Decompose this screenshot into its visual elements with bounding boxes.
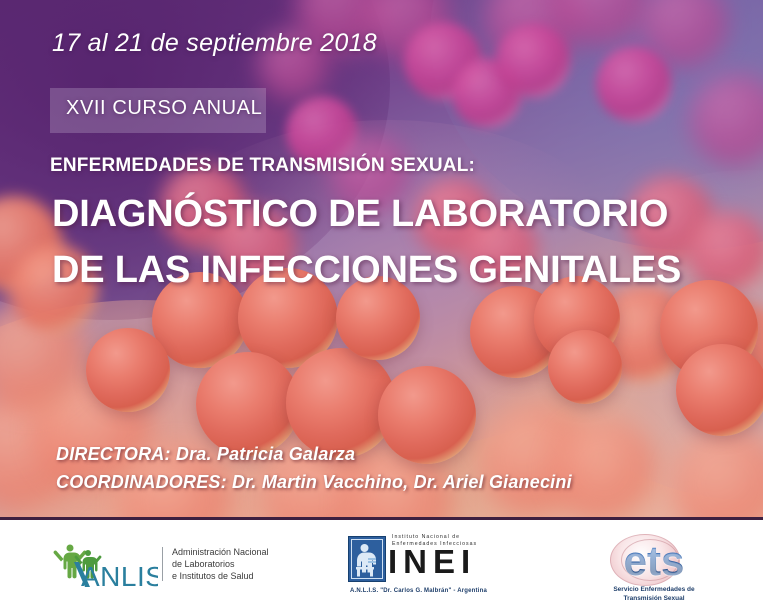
anlis-divider <box>162 547 163 581</box>
poster-title-line-2: DE LAS INFECCIONES GENITALES <box>52 249 681 292</box>
bacteria-cell <box>690 74 763 166</box>
director-credit: DIRECTORA: Dra. Patricia Galarza <box>56 444 355 465</box>
anlis-wordmark: ANLIS <box>81 561 158 588</box>
bacteria-cell <box>0 300 84 410</box>
bacteria-cell <box>660 280 758 378</box>
inei-institute-name-line-1: Instituto Nacional de <box>392 534 477 541</box>
footer-logos: ANLIS Administración Nacional de Laborat… <box>0 520 763 615</box>
bacteria-cell <box>404 22 482 100</box>
bacteria-cell <box>86 328 170 412</box>
anlis-description-line-1: Administración Nacional <box>172 546 269 558</box>
bacteria-cell <box>596 286 692 382</box>
bacteria-cell <box>688 212 763 292</box>
ets-logo: ets Servicio Enfermedades de Transmisión… <box>594 534 714 604</box>
bacteria-cell <box>556 0 648 46</box>
bacteria-cell <box>366 0 450 60</box>
bacteria-cell <box>378 366 476 464</box>
coordinators-credit: COORDINADORES: Dr. Martin Vacchino, Dr. … <box>56 472 572 493</box>
inei-wordmark: INEI <box>388 545 476 579</box>
bacteria-cell <box>452 58 522 128</box>
inei-logo: Instituto Nacional de Enfermedades Infec… <box>348 532 508 604</box>
bacteria-cell <box>496 24 570 98</box>
people-v-icon: ANLIS <box>50 540 158 588</box>
anlis-description-line-2: de Laboratorios <box>172 558 269 570</box>
ets-sub-line-1: Servicio Enfermedades de <box>594 586 714 595</box>
bacteria-cell <box>552 418 656 520</box>
bacteria-microscopy-image: 17 al 21 de septiembre 2018 XVII CURSO A… <box>0 0 763 520</box>
bacteria-cell <box>672 428 763 520</box>
ets-sub-lines: Servicio Enfermedades de Transmisión Sex… <box>594 586 714 603</box>
seated-figure-emblem-icon <box>348 536 386 582</box>
anlis-description: Administración Nacional de Laboratorios … <box>172 546 269 582</box>
course-label: XVII CURSO ANUAL <box>66 97 262 120</box>
ets-sub-line-2: Transmisión Sexual <box>594 595 714 604</box>
bacteria-cell <box>196 352 300 456</box>
bacteria-cell <box>480 404 592 516</box>
bacteria-cell <box>486 0 582 66</box>
bacteria-cell <box>470 286 562 378</box>
bacteria-cell <box>640 0 728 68</box>
event-date: 17 al 21 de septiembre 2018 <box>52 29 377 58</box>
bacteria-cell <box>596 46 672 122</box>
poster-title-line-1: DIAGNÓSTICO DE LABORATORIO <box>52 193 668 236</box>
poster: 17 al 21 de septiembre 2018 XVII CURSO A… <box>0 0 763 615</box>
anlis-logo: ANLIS Administración Nacional de Laborat… <box>50 540 269 588</box>
anlis-description-line-3: e Institutos de Salud <box>172 570 269 582</box>
bacteria-cell <box>676 344 763 436</box>
ets-wordmark: ets <box>594 540 714 582</box>
bacteria-cell <box>286 348 396 458</box>
bacteria-cell <box>548 330 622 404</box>
inei-sub-line: A.N.L.I.S. "Dr. Carlos G. Malbrán" - Arg… <box>350 588 487 594</box>
bacteria-cell <box>700 304 763 390</box>
poster-subtitle: ENFERMEDADES DE TRANSMISIÓN SEXUAL: <box>50 155 475 177</box>
